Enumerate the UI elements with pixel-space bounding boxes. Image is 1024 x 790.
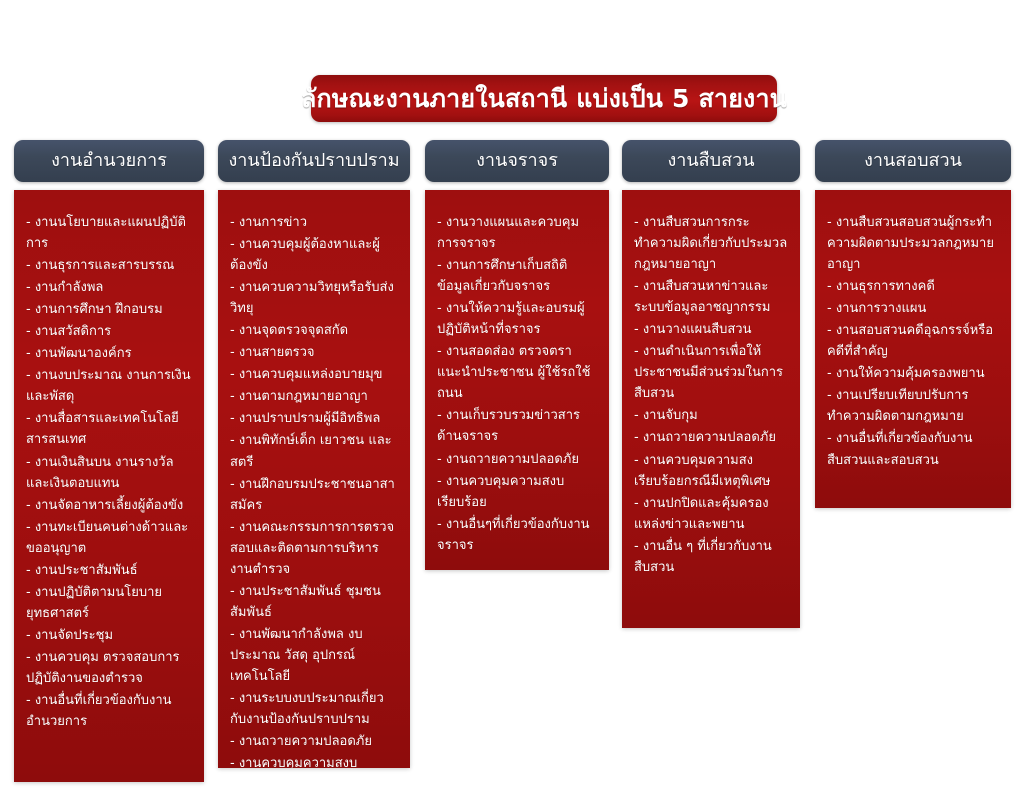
list-item: - งานกำลังพล (26, 277, 192, 298)
list-item: - งานธุรการทางคดี (827, 276, 999, 297)
diagram-title-banner: ลักษณะงานภายในสถานี แบ่งเป็น 5 สายงาน (311, 75, 777, 122)
list-item: - งานคณะกรรมการการตรวจสอบและติดตามการบริ… (230, 517, 398, 580)
list-item: - งานจัดอาหารเลี้ยงผู้ต้องขัง (26, 495, 192, 516)
list-item: - งานเปรียบเทียบปรับการทำความผิดตามกฎหมา… (827, 385, 999, 427)
list-item: - งานควบคุมความสงบเรียบร้อย (437, 471, 597, 513)
list-item: - งานควบคุมแหล่งอบายมุข (230, 364, 398, 385)
list-item: - งานสืบสวนการกระทำความผิดเกี่ยวกับประมว… (634, 212, 788, 275)
list-item: - งานพัฒนากำลังพล งบประมาณ วัสดุ อุปกรณ์… (230, 624, 398, 687)
column-header-label: งานอำนวยการ (51, 151, 167, 171)
column-administration: งานอำนวยการ - งานนโยบายและแผนปฏิบัติการ … (14, 140, 204, 782)
list-item: - งานสายตรวจ (230, 342, 398, 363)
list-item: - งานควบคุม ตรวจสอบการปฏิบัติงานของตำรวจ (26, 647, 192, 689)
task-list-inquiry: - งานสืบสวนสอบสวนผู้กระทำความผิดตามประมว… (827, 212, 999, 471)
task-list-administration: - งานนโยบายและแผนปฏิบัติการ - งานธุรการแ… (26, 212, 192, 732)
column-header-label: งานสืบสวน (667, 151, 754, 171)
column-header-inquiry[interactable]: งานสอบสวน (815, 140, 1011, 182)
list-item: - งานดำเนินการเพื่อให้ประชาชนมีส่วนร่วมใ… (634, 341, 788, 404)
column-header-crime-prevention[interactable]: งานป้องกันปราบปราม (218, 140, 410, 182)
column-header-label: งานป้องกันปราบปราม (228, 151, 399, 171)
list-item: - งานการศึกษา ฝึกอบรม (26, 299, 192, 320)
list-item: - งานวางแผนสืบสวน (634, 319, 788, 340)
list-item: - งานจับกุม (634, 405, 788, 426)
column-body-administration: - งานนโยบายและแผนปฏิบัติการ - งานธุรการแ… (14, 190, 204, 782)
list-item: - งานนโยบายและแผนปฏิบัติการ (26, 212, 192, 254)
list-item: - งานประชาสัมพันธ์ ชุมชนสัมพันธ์ (230, 581, 398, 623)
list-item: - งานจัดประชุม (26, 625, 192, 646)
list-item: - งานประชาสัมพันธ์ (26, 560, 192, 581)
column-crime-prevention: งานป้องกันปราบปราม - งานการข่าว - งานควบ… (218, 140, 410, 768)
list-item: - งานปฏิบัติตามนโยบายยุทธศาสตร์ (26, 582, 192, 624)
column-header-label: งานสอบสวน (864, 151, 962, 171)
column-body-crime-prevention: - งานการข่าว - งานควบคุมผู้ต้องหาและผู้ต… (218, 190, 410, 768)
column-inquiry: งานสอบสวน - งานสืบสวนสอบสวนผู้กระทำความผ… (815, 140, 1011, 508)
list-item: - งานจุดตรวจจุดสกัด (230, 320, 398, 341)
list-item: - งานให้ความรู้และอบรมผู้ปฏิบัติหน้าที่จ… (437, 298, 597, 340)
list-item: - งานถวายความปลอดภัย (230, 731, 398, 752)
list-item: - งานสอดส่อง ตรวจตรา แนะนำประชาชน ผู้ใช้… (437, 341, 597, 404)
column-body-traffic: - งานวางแผนและควบคุมการจราจร - งานการศึก… (425, 190, 609, 570)
list-item: - งานถวายความปลอดภัย (437, 449, 597, 470)
list-item: - งานพัฒนาองค์กร (26, 343, 192, 364)
column-header-administration[interactable]: งานอำนวยการ (14, 140, 204, 182)
list-item: - งานอื่นที่เกี่ยวข้องกับงานสืบสวนและสอบ… (827, 428, 999, 470)
column-header-traffic[interactable]: งานจราจร (425, 140, 609, 182)
task-list-crime-prevention: - งานการข่าว - งานควบคุมผู้ต้องหาและผู้ต… (230, 212, 398, 768)
list-item: - งานการวางแผน (827, 298, 999, 319)
list-item: - งานเงินสินบน งานรางวัลและเงินตอบแทน (26, 452, 192, 494)
list-item: - งานควบคุมผู้ต้องหาและผู้ต้องขัง (230, 234, 398, 276)
column-header-label: งานจราจร (476, 151, 558, 171)
task-list-investigation: - งานสืบสวนการกระทำความผิดเกี่ยวกับประมว… (634, 212, 788, 578)
list-item: - งานสอบสวนคดีอุฉกรรจ์หรือคดีที่สำคัญ (827, 320, 999, 362)
list-item: - งานตามกฎหมายอาญา (230, 386, 398, 407)
list-item: - งานการศึกษาเก็บสถิติข้อมูลเกี่ยวกับจรา… (437, 255, 597, 297)
list-item: - งานอื่นๆที่เกี่ยวข้องกับงานจราจร (437, 514, 597, 556)
list-item: - งานอื่น ๆ ที่เกี่ยวกับงานสืบสวน (634, 536, 788, 578)
list-item: - งานเก็บรวบรวมข่าวสารด้านจราจร (437, 405, 597, 447)
list-item: - งานฝึกอบรมประชาชนอาสาสมัคร (230, 474, 398, 516)
list-item: - งานสืบสวนสอบสวนผู้กระทำความผิดตามประมว… (827, 212, 999, 275)
list-item: - งานสืบสวนหาข่าวและระบบข้อมูลอาชญากรรม (634, 276, 788, 318)
list-item: - งานการข่าว (230, 212, 398, 233)
list-item: - งานสวัสดิการ (26, 321, 192, 342)
column-traffic: งานจราจร - งานวางแผนและควบคุมการจราจร - … (425, 140, 609, 570)
list-item: - งานวางแผนและควบคุมการจราจร (437, 212, 597, 254)
list-item: - งานควบคุมความสงเรียบร้อยกรณีมีเหตุพิเศ… (634, 450, 788, 492)
list-item: - งานปราบปรามผู้มีอิทธิพล (230, 408, 398, 429)
list-item: - งานธุรการและสารบรรณ (26, 255, 192, 276)
list-item: - งานให้ความคุ้มครองพยาน (827, 363, 999, 384)
diagram-title-text: ลักษณะงานภายในสถานี แบ่งเป็น 5 สายงาน (301, 85, 787, 113)
list-item: - งานทะเบียนคนต่างด้าวและขออนุญาต (26, 517, 192, 559)
column-body-investigation: - งานสืบสวนการกระทำความผิดเกี่ยวกับประมว… (622, 190, 800, 628)
list-item: - งานอื่นที่เกี่ยวข้องกับงานอำนวยการ (26, 690, 192, 732)
list-item: - งานสื่อสารและเทคโนโลยีสารสนเทศ (26, 408, 192, 450)
column-header-investigation[interactable]: งานสืบสวน (622, 140, 800, 182)
list-item: - งานปกปิดและคุ้มครองแหล่งข่าวและพยาน (634, 493, 788, 535)
column-body-inquiry: - งานสืบสวนสอบสวนผู้กระทำความผิดตามประมว… (815, 190, 1011, 508)
list-item: - งานถวายความปลอดภัย (634, 427, 788, 448)
list-item: - งานควบคุมความสงบเรียบร้อย (230, 753, 398, 768)
list-item: - งานระบบงบประมาณเกี่ยวกับงานป้องกันปราบ… (230, 688, 398, 730)
list-item: - งานงบประมาณ งานการเงินและพัสดุ (26, 365, 192, 407)
list-item: - งานพิทักษ์เด็ก เยาวชน และสตรี (230, 430, 398, 472)
list-item: - งานควบความวิทยุหรือรับส่งวิทยุ (230, 277, 398, 319)
task-list-traffic: - งานวางแผนและควบคุมการจราจร - งานการศึก… (437, 212, 597, 556)
column-investigation: งานสืบสวน - งานสืบสวนการกระทำความผิดเกี่… (622, 140, 800, 628)
